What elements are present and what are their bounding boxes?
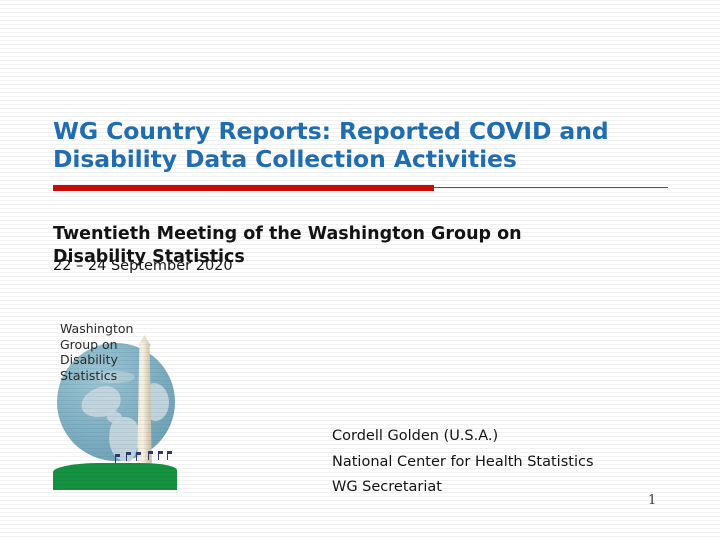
flag-icon (115, 454, 116, 463)
page-title: WG Country Reports: Reported COVID and D… (53, 117, 653, 173)
slide-canvas: WG Country Reports: Reported COVID and D… (0, 0, 720, 540)
author-role: WG Secretariat (332, 475, 672, 501)
title-divider (53, 185, 668, 192)
author-organization: National Center for Health Statistics (332, 450, 672, 476)
logo-text-line-1: Washington (60, 321, 144, 337)
lawn-shape (53, 463, 177, 490)
washington-group-logo: Washington Group on Disability Statistic… (53, 317, 177, 490)
divider-thin-rule (434, 187, 668, 188)
flag-icon (136, 452, 137, 461)
logo-text: Washington Group on Disability Statistic… (60, 321, 144, 383)
author-block: Cordell Golden (U.S.A.) National Center … (332, 424, 672, 501)
flag-icon (126, 452, 127, 461)
page-number: 1 (648, 493, 656, 508)
author-name: Cordell Golden (U.S.A.) (332, 424, 672, 450)
flag-icon (148, 451, 149, 460)
logo-text-line-4: Statistics (60, 368, 144, 384)
divider-thick-bar (53, 185, 434, 191)
logo-text-line-3: Disability (60, 352, 144, 368)
meeting-date: 22 – 24 September 2020 (53, 258, 233, 274)
logo-text-line-2: Group on (60, 337, 144, 353)
flag-icon (158, 451, 159, 460)
flag-icon (167, 451, 168, 460)
